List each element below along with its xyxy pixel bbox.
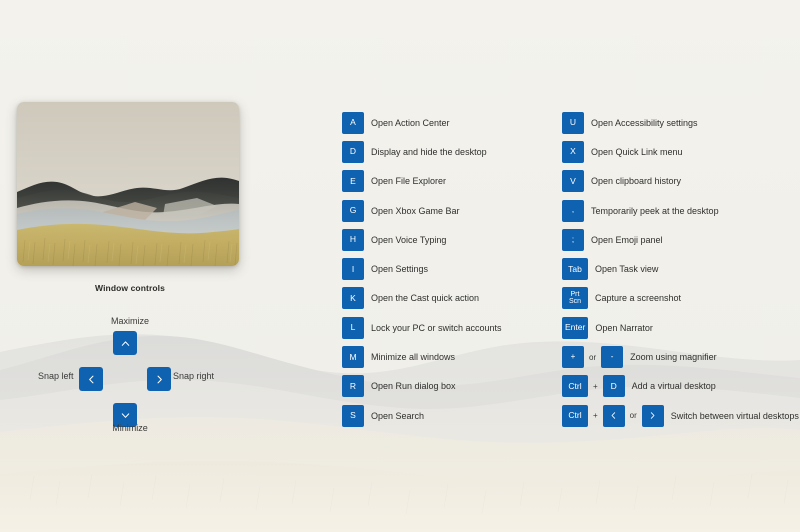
shortcut-description: Open Quick Link menu — [591, 147, 683, 157]
key-l[interactable]: L — [342, 317, 364, 339]
shortcut-description: Open File Explorer — [371, 176, 446, 186]
key-s[interactable]: S — [342, 405, 364, 427]
key-+[interactable]: + — [562, 346, 584, 368]
shortcut-description: Minimize all windows — [371, 352, 455, 362]
key-ctrl[interactable]: Ctrl — [562, 375, 588, 397]
key-k[interactable]: K — [342, 287, 364, 309]
chevron-left-icon — [86, 374, 97, 385]
shortcut-description: Open Accessibility settings — [591, 118, 698, 128]
maximize-label: Maximize — [30, 316, 230, 326]
chevron-up-icon — [120, 338, 131, 349]
desktop-wallpaper-preview — [17, 102, 239, 266]
key-g[interactable]: G — [342, 200, 364, 222]
shortcut-row: HOpen Voice Typing — [342, 225, 502, 254]
key-enter[interactable]: Enter — [562, 317, 588, 339]
shortcut-description: Lock your PC or switch accounts — [371, 323, 502, 333]
key-chevron-right-icon[interactable] — [642, 405, 664, 427]
shortcut-description: Capture a screenshot — [595, 293, 681, 303]
key-x[interactable]: X — [562, 141, 584, 163]
shortcut-description: Open Voice Typing — [371, 235, 446, 245]
shortcut-row: KOpen the Cast quick action — [342, 284, 502, 313]
shortcut-row: AOpen Action Center — [342, 108, 502, 137]
shortcut-row: Ctrl+orSwitch between virtual desktops — [562, 401, 799, 430]
key--[interactable]: - — [601, 346, 623, 368]
window-controls-title: Window controls — [30, 283, 230, 293]
chevron-right-icon — [154, 374, 165, 385]
shortcut-description: Open Search — [371, 411, 424, 421]
shortcut-row: ;Open Emoji panel — [562, 225, 799, 254]
shortcut-row: EOpen File Explorer — [342, 167, 502, 196]
key-d[interactable]: D — [342, 141, 364, 163]
snap-left-label: Snap left — [38, 371, 74, 381]
key-;[interactable]: ; — [562, 229, 584, 251]
shortcut-row: VOpen clipboard history — [562, 167, 799, 196]
key-joiner: + — [588, 411, 603, 420]
key-a[interactable]: A — [342, 112, 364, 134]
shortcut-row: Ctrl+DAdd a virtual desktop — [562, 372, 799, 401]
shortcut-description: Add a virtual desktop — [632, 381, 716, 391]
shortcut-description: Open the Cast quick action — [371, 293, 479, 303]
shortcut-description: Display and hide the desktop — [371, 147, 487, 157]
key-h[interactable]: H — [342, 229, 364, 251]
key-tab[interactable]: Tab — [562, 258, 588, 280]
shortcut-description: Zoom using magnifier — [630, 352, 717, 362]
shortcut-row: IOpen Settings — [342, 254, 502, 283]
key-arrow-up[interactable] — [113, 331, 137, 355]
shortcut-row: TabOpen Task view — [562, 254, 799, 283]
shortcut-row: SOpen Search — [342, 401, 502, 430]
minimize-label: Minimize — [30, 423, 230, 433]
shortcut-description: Open Settings — [371, 264, 428, 274]
key-,[interactable]: , — [562, 200, 584, 222]
shortcut-description: Open Emoji panel — [591, 235, 663, 245]
key-prt-scn[interactable]: Prt Scn — [562, 287, 588, 309]
shortcut-column-right: UOpen Accessibility settingsXOpen Quick … — [562, 108, 799, 430]
key-u[interactable]: U — [562, 112, 584, 134]
shortcut-row: UOpen Accessibility settings — [562, 108, 799, 137]
key-arrow-right[interactable] — [147, 367, 171, 391]
shortcut-row: DDisplay and hide the desktop — [342, 137, 502, 166]
shortcut-column-left: AOpen Action CenterDDisplay and hide the… — [342, 108, 502, 430]
window-controls-diagram: Window controls Maximize Snap left — [30, 283, 230, 443]
shortcut-description: Open Xbox Game Bar — [371, 206, 460, 216]
key-arrow-left[interactable] — [79, 367, 103, 391]
key-m[interactable]: M — [342, 346, 364, 368]
shortcut-row: ROpen Run dialog box — [342, 372, 502, 401]
key-joiner: + — [588, 382, 603, 391]
shortcut-description: Open Action Center — [371, 118, 450, 128]
shortcut-row: LLock your PC or switch accounts — [342, 313, 502, 342]
shortcut-description: Temporarily peek at the desktop — [591, 206, 719, 216]
shortcut-row: XOpen Quick Link menu — [562, 137, 799, 166]
key-ctrl[interactable]: Ctrl — [562, 405, 588, 427]
chevron-right-icon — [648, 411, 657, 420]
shortcut-row: GOpen Xbox Game Bar — [342, 196, 502, 225]
shortcut-description: Open Narrator — [595, 323, 653, 333]
key-e[interactable]: E — [342, 170, 364, 192]
shortcut-row: EnterOpen Narrator — [562, 313, 799, 342]
shortcut-description: Open Task view — [595, 264, 658, 274]
key-d[interactable]: D — [603, 375, 625, 397]
key-r[interactable]: R — [342, 375, 364, 397]
shortcut-row: MMinimize all windows — [342, 342, 502, 371]
shortcut-row: +or-Zoom using magnifier — [562, 342, 799, 371]
chevron-down-icon — [120, 410, 131, 421]
shortcut-description: Switch between virtual desktops — [671, 411, 799, 421]
shortcut-row: Prt ScnCapture a screenshot — [562, 284, 799, 313]
shortcut-description: Open clipboard history — [591, 176, 681, 186]
key-chevron-left-icon[interactable] — [603, 405, 625, 427]
key-joiner: or — [584, 353, 601, 362]
key-i[interactable]: I — [342, 258, 364, 280]
shortcut-row: ,Temporarily peek at the desktop — [562, 196, 799, 225]
chevron-left-icon — [609, 411, 618, 420]
snap-right-label: Snap right — [173, 371, 214, 381]
shortcut-description: Open Run dialog box — [371, 381, 456, 391]
key-joiner: or — [625, 411, 642, 420]
key-v[interactable]: V — [562, 170, 584, 192]
